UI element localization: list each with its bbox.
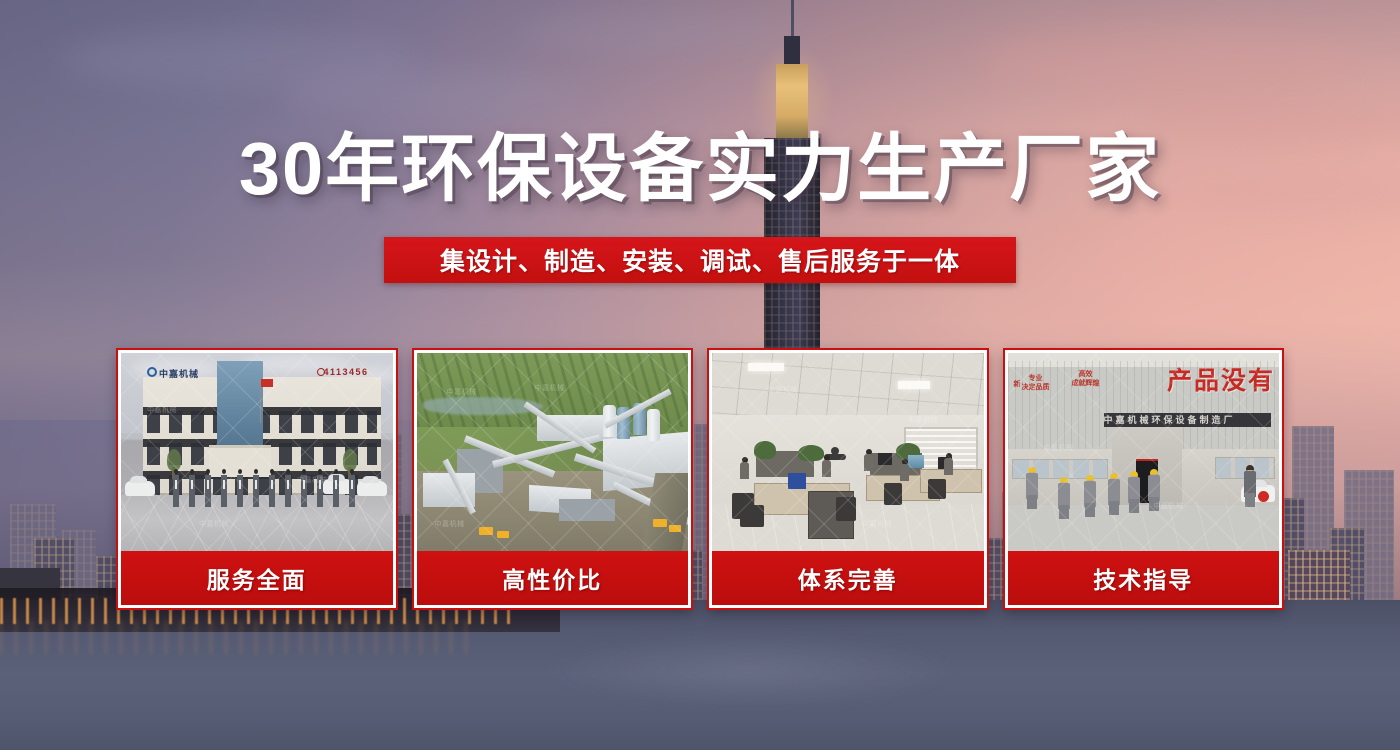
card-photo: 中嘉机械 4113456: [121, 353, 393, 557]
card-caption-text: 服务全面: [207, 561, 307, 595]
feature-card[interactable]: 中嘉机械 中嘉机械 中嘉机械 高性价比: [414, 350, 692, 608]
feature-card[interactable]: 产品没有 新 专业 决定品质 高效 成就辉煌 中嘉机械环保设备制造厂: [1005, 350, 1283, 608]
light-reflections: [0, 620, 480, 654]
cloud-shape: [280, 72, 580, 116]
card-photo: 产品没有 新 专业 决定品质 高效 成就辉煌 中嘉机械环保设备制造厂: [1008, 353, 1280, 557]
card-caption: 高性价比: [417, 551, 689, 605]
building-phone-number: 4113456: [323, 367, 368, 377]
feature-card-list: 中嘉机械 4113456: [118, 350, 1282, 608]
factory-signage-text: 中嘉机械环保设备制造厂: [1104, 413, 1272, 427]
water-sheen: [540, 630, 960, 710]
monitor: [878, 453, 892, 465]
cloud-shape: [980, 28, 1360, 94]
laptop: [788, 473, 806, 489]
chair: [928, 479, 946, 499]
chair: [740, 505, 764, 527]
card-caption-text: 高性价比: [502, 561, 602, 595]
card-caption-text: 体系完善: [798, 561, 898, 595]
factory-slogan-small: 高效 成就辉煌: [1072, 371, 1100, 389]
company-logo-icon: [147, 367, 157, 377]
feature-card[interactable]: 中嘉机械 4113456: [118, 350, 396, 608]
card-caption-text: 技术指导: [1093, 561, 1193, 595]
subtitle-text: 集设计、制造、安装、调试、售后服务于一体: [440, 242, 960, 278]
tower-spire: [791, 0, 794, 38]
page-title: 30年环保设备实力生产厂家: [0, 132, 1400, 206]
subtitle-banner: 集设计、制造、安装、调试、售后服务于一体: [384, 237, 1016, 283]
tower-neck: [784, 36, 800, 66]
factory-slogan-large: 产品没有: [1167, 361, 1275, 397]
chair: [836, 497, 856, 521]
card-photo: 中嘉机械 中嘉机械 中嘉机械: [417, 353, 689, 557]
card-caption: 服务全面: [121, 551, 393, 605]
card-caption: 体系完善: [712, 551, 984, 605]
card-photo: 中嘉机械 中嘉机械 中嘉机械: [712, 353, 984, 557]
factory-slogan-small: 新: [1014, 379, 1021, 389]
feature-card[interactable]: 中嘉机械 中嘉机械 中嘉机械 体系完善: [709, 350, 987, 608]
card-caption: 技术指导: [1008, 551, 1280, 605]
building-sign-text: 中嘉机械: [159, 367, 199, 380]
ceiling-light: [898, 381, 930, 389]
promo-banner: 30年环保设备实力生产厂家 集设计、制造、安装、调试、售后服务于一体: [0, 0, 1400, 750]
factory-slogan-small: 专业 决定品质: [1022, 375, 1050, 393]
monitor: [908, 455, 924, 468]
flag-icon: [261, 379, 273, 387]
chair: [884, 483, 902, 505]
factory-signage-strip: 中嘉机械环保设备制造厂: [1104, 413, 1272, 427]
ceiling-light: [748, 363, 784, 371]
red-helmet-icon: [1258, 491, 1269, 502]
